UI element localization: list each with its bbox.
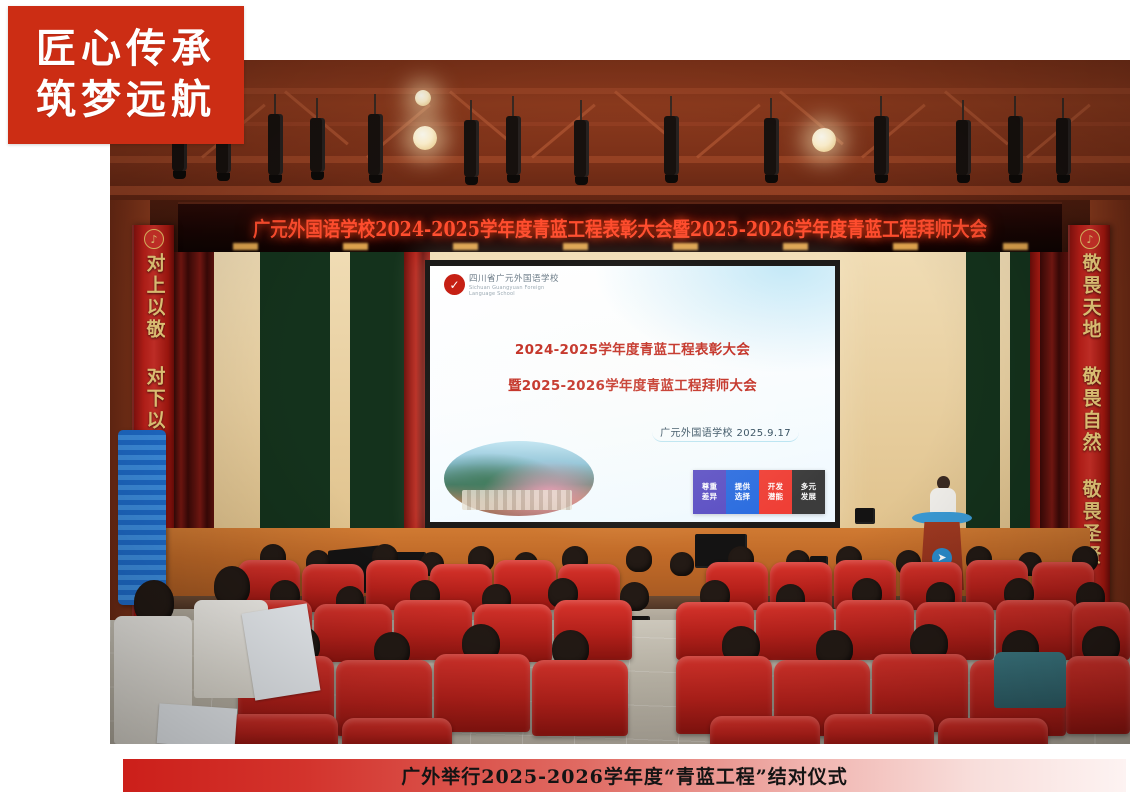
auditorium-seat (1066, 656, 1130, 734)
ceiling-bulb-icon (415, 90, 431, 106)
slide-logo-english-2: Language School (469, 291, 559, 298)
slide-value-box: 尊重 差异 (693, 470, 726, 514)
slide-title-line-1: 2024-2025学年度青蓝工程表彰大会 (430, 338, 835, 358)
stage-light-icon (506, 116, 521, 176)
slide-value-box-line2: 发展 (801, 492, 817, 502)
ceiling-bulb-icon (413, 126, 437, 150)
presentation-slide: ✓ 四川省广元外国语学校 Sichuan Guangyuan Foreign L… (430, 266, 835, 522)
stage-light-icon (574, 120, 589, 178)
headline-badge-line-2: 筑梦远航 (36, 76, 216, 125)
curtain-green-left-b (350, 252, 404, 540)
auditorium-seat (710, 716, 820, 744)
slide-value-box-line2: 选择 (735, 492, 751, 502)
school-emblem-icon: ♪ (144, 229, 164, 249)
stage-light-icon (268, 114, 283, 176)
ceiling-truss (110, 60, 1130, 206)
slide-value-boxes: 尊重 差异 提供 选择 开发 潜能 多元 发展 (693, 470, 825, 514)
stage-light-icon (664, 116, 679, 176)
curtain-green-left-a (260, 252, 330, 542)
caption-text: 广外举行2025-2026学年度“青蓝工程”结对仪式 (401, 762, 848, 789)
led-banner-text: 广元外国语学校2024-2025学年度青蓝工程表彰大会暨2025-2026学年度… (253, 214, 987, 243)
podium-laptop (855, 508, 875, 524)
auditorium-seat (228, 714, 338, 744)
auditorium-seat (824, 714, 934, 744)
stage-light-icon (310, 118, 325, 173)
audience-head (670, 552, 694, 576)
slide-campus-photo (444, 441, 594, 516)
slide-school-logo: ✓ 四川省广元外国语学校 Sichuan Guangyuan Foreign L… (444, 274, 559, 298)
stage-light-icon (764, 118, 779, 176)
event-photo: 广元外国语学校2024-2025学年度青蓝工程表彰大会暨2025-2026学年度… (110, 60, 1130, 744)
curtain-green-right-b (1010, 252, 1032, 544)
headline-badge-line-1: 匠心传承 (36, 25, 216, 74)
slide-value-box-line2: 潜能 (768, 492, 784, 502)
led-banner-reflection (178, 243, 1062, 250)
stage-light-icon (1056, 118, 1071, 176)
caption-bar: 广外举行2025-2026学年度“青蓝工程”结对仪式 (123, 759, 1126, 792)
stage-light-icon (956, 120, 971, 176)
slide-logo-chinese: 四川省广元外国语学校 (469, 274, 559, 285)
led-banner: 广元外国语学校2024-2025学年度青蓝工程表彰大会暨2025-2026学年度… (178, 202, 1062, 252)
audience-paper-sheet (157, 703, 238, 744)
ceiling-bulb-icon (812, 128, 836, 152)
auditorium-seat (434, 654, 530, 732)
slide-value-box: 开发 潜能 (759, 470, 792, 514)
headline-badge: 匠心传承 筑梦远航 (8, 6, 244, 144)
slide-value-box-line1: 开发 (768, 482, 784, 492)
curtain-green-right-a (966, 252, 1000, 542)
audience-head (626, 546, 652, 572)
slide-value-box-line2: 差异 (702, 492, 718, 502)
slide-value-box-line1: 尊重 (702, 482, 718, 492)
projection-screen: ✓ 四川省广元外国语学校 Sichuan Guangyuan Foreign L… (425, 260, 840, 528)
school-logo-icon: ✓ (444, 274, 465, 295)
slide-value-box: 多元 发展 (792, 470, 825, 514)
slide-date-label: 广元外国语学校 2025.9.17 (652, 422, 799, 442)
auditorium-seat (342, 718, 452, 744)
stacked-blue-chairs (118, 430, 166, 605)
audience-paper-sheet (242, 603, 321, 700)
audience-shirt (994, 652, 1066, 708)
stage-light-icon (1008, 116, 1023, 176)
slide-title-line-2: 暨2025-2026学年度青蓝工程拜师大会 (430, 374, 835, 394)
stage-light-icon (874, 116, 889, 176)
slide-value-box-line1: 多元 (801, 482, 817, 492)
stage-light-icon (368, 114, 383, 176)
auditorium-seat (532, 660, 628, 736)
auditorium-seat (938, 718, 1048, 744)
slide-value-box-line1: 提供 (735, 482, 751, 492)
stage-light-icon (464, 120, 479, 178)
school-emblem-icon: ♪ (1080, 229, 1100, 249)
slide-value-box: 提供 选择 (726, 470, 759, 514)
